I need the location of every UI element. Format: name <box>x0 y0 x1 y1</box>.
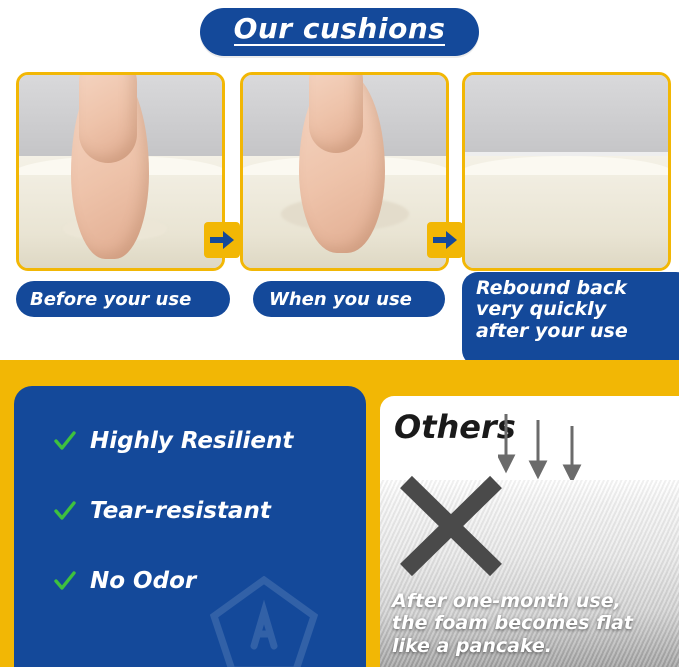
photo-backdrop <box>465 75 668 164</box>
photo-scene <box>19 75 222 268</box>
caption-text: When you use <box>269 289 412 310</box>
caption-before-use: Before your use <box>16 281 230 317</box>
page-title: Our cushions <box>234 14 446 46</box>
caption-line-1: Rebound back <box>476 278 628 299</box>
others-caption-line-3: like a pancake. <box>392 635 671 657</box>
feature-label: No Odor <box>90 568 196 594</box>
feature-item-2: Tear-resistant <box>54 498 271 524</box>
feature-item-3: No Odor <box>54 568 196 594</box>
arm-shape <box>309 72 363 153</box>
caption-line-2: very quickly <box>476 299 628 320</box>
photo-rebound <box>462 72 671 271</box>
title-pill: Our cushions <box>200 8 480 56</box>
others-caption: After one-month use, the foam becomes fl… <box>392 590 671 657</box>
photo-scene <box>243 75 446 268</box>
arrow-down-icon-group <box>498 414 594 484</box>
feature-label: Tear-resistant <box>90 498 271 524</box>
arrow-right-icon-2 <box>427 222 463 258</box>
check-icon <box>54 570 76 592</box>
caption-line-3: after your use <box>476 321 628 342</box>
photo-when-you-use <box>240 72 449 271</box>
caption-rebound: Rebound back very quickly after your use <box>462 272 679 366</box>
x-mark-icon <box>392 474 512 586</box>
photo-row <box>0 72 679 265</box>
feature-item-1: Highly Resilient <box>54 428 293 454</box>
features-panel: Highly Resilient Tear-resistant No Odor <box>14 386 366 667</box>
caption-when-you-use: When you use <box>253 281 445 317</box>
check-icon <box>54 430 76 452</box>
photo-scene <box>465 75 668 268</box>
caption-text: Before your use <box>30 289 191 310</box>
foam-flat-highlight <box>465 152 668 156</box>
house-logo-watermark-icon <box>210 576 318 667</box>
arm-shape <box>79 72 137 163</box>
caption-text-block: Rebound back very quickly after your use <box>476 278 628 342</box>
photo-before-use <box>16 72 225 271</box>
page-title-bar: Our cushions <box>0 8 679 56</box>
check-icon <box>54 500 76 522</box>
arrow-right-icon-1 <box>204 222 240 258</box>
others-caption-line-1: After one-month use, <box>392 590 671 612</box>
feature-label: Highly Resilient <box>90 428 293 454</box>
others-caption-line-2: the foam becomes flat <box>392 612 671 634</box>
others-panel: Others After one-month use, the foam bec… <box>380 396 679 667</box>
